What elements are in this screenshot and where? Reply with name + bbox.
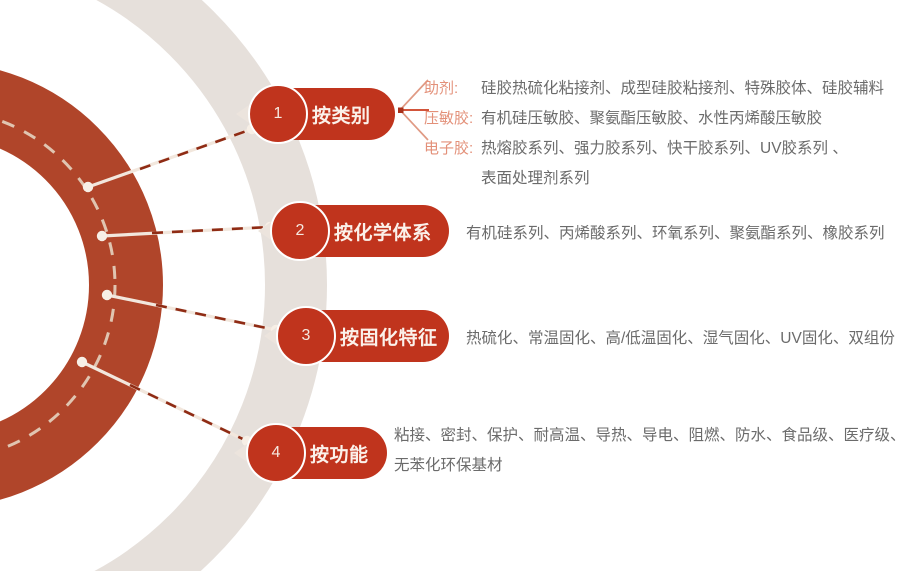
category-row-1[interactable]: 1 按类别 助剂: 硅胶热硫化粘接剂、成型硅胶粘接剂、特殊胶体、硅胶辅料 压敏胶… (0, 76, 902, 184)
detail-value: 有机硅系列、丙烯酸系列、环氧系列、聚氨酯系列、橡胶系列 (466, 219, 885, 249)
detail-key: 电子胶: (424, 137, 476, 158)
detail-line-continued: 表面处理剂系列 (424, 166, 884, 196)
row-4-number-badge: 4 (246, 423, 306, 483)
row-4-label: 按功能 (310, 440, 369, 467)
detail-key: 助剂: (424, 77, 476, 98)
row-4-details: 粘接、密封、保护、耐高温、导热、导电、阻燃、防水、食品级、医疗级、 无苯化环保基… (394, 421, 902, 481)
detail-value: 热硫化、常温固化、高/低温固化、湿气固化、UV固化、双组份 (466, 324, 895, 354)
detail-value: 无苯化环保基材 (394, 451, 902, 481)
detail-value: 有机硅压敏胶、聚氨酯压敏胶、水性丙烯酸压敏胶 (481, 106, 822, 128)
row-2-pill[interactable]: 2 按化学体系 (272, 205, 449, 257)
row-3-pill[interactable]: 3 按固化特征 (278, 310, 449, 362)
row-3-number-badge: 3 (276, 306, 336, 366)
row-3-label: 按固化特征 (340, 323, 438, 350)
row-2-number-badge: 2 (270, 201, 330, 261)
infographic-canvas: 1 按类别 助剂: 硅胶热硫化粘接剂、成型硅胶粘接剂、特殊胶体、硅胶辅料 压敏胶… (0, 0, 902, 571)
detail-line: 电子胶: 热熔胶系列、强力胶系列、快干胶系列、UV胶系列 、 (424, 136, 884, 166)
row-4-pill[interactable]: 4 按功能 (248, 427, 387, 479)
detail-line: 助剂: 硅胶热硫化粘接剂、成型硅胶粘接剂、特殊胶体、硅胶辅料 (424, 76, 884, 106)
detail-key: 压敏胶: (424, 107, 476, 128)
detail-line: 压敏胶: 有机硅压敏胶、聚氨酯压敏胶、水性丙烯酸压敏胶 (424, 106, 884, 136)
row-1-details: 助剂: 硅胶热硫化粘接剂、成型硅胶粘接剂、特殊胶体、硅胶辅料 压敏胶: 有机硅压… (424, 76, 884, 196)
detail-value: 粘接、密封、保护、耐高温、导热、导电、阻燃、防水、食品级、医疗级、 (394, 421, 902, 451)
row-1-label: 按类别 (312, 101, 371, 128)
detail-value: 表面处理剂系列 (481, 166, 590, 188)
row-2-label: 按化学体系 (334, 218, 432, 245)
detail-value: 热熔胶系列、强力胶系列、快干胶系列、UV胶系列 、 (481, 136, 848, 158)
row-3-details: 热硫化、常温固化、高/低温固化、湿气固化、UV固化、双组份 (466, 324, 895, 354)
row-2-details: 有机硅系列、丙烯酸系列、环氧系列、聚氨酯系列、橡胶系列 (466, 219, 885, 249)
category-row-3[interactable]: 3 按固化特征 热硫化、常温固化、高/低温固化、湿气固化、UV固化、双组份 (0, 308, 902, 364)
category-row-2[interactable]: 2 按化学体系 有机硅系列、丙烯酸系列、环氧系列、聚氨酯系列、橡胶系列 (0, 203, 902, 259)
row-1-number-badge: 1 (248, 84, 308, 144)
detail-value: 硅胶热硫化粘接剂、成型硅胶粘接剂、特殊胶体、硅胶辅料 (481, 76, 884, 98)
row-1-pill[interactable]: 1 按类别 (250, 88, 395, 140)
category-row-4[interactable]: 4 按功能 粘接、密封、保护、耐高温、导热、导电、阻燃、防水、食品级、医疗级、 … (0, 415, 902, 491)
